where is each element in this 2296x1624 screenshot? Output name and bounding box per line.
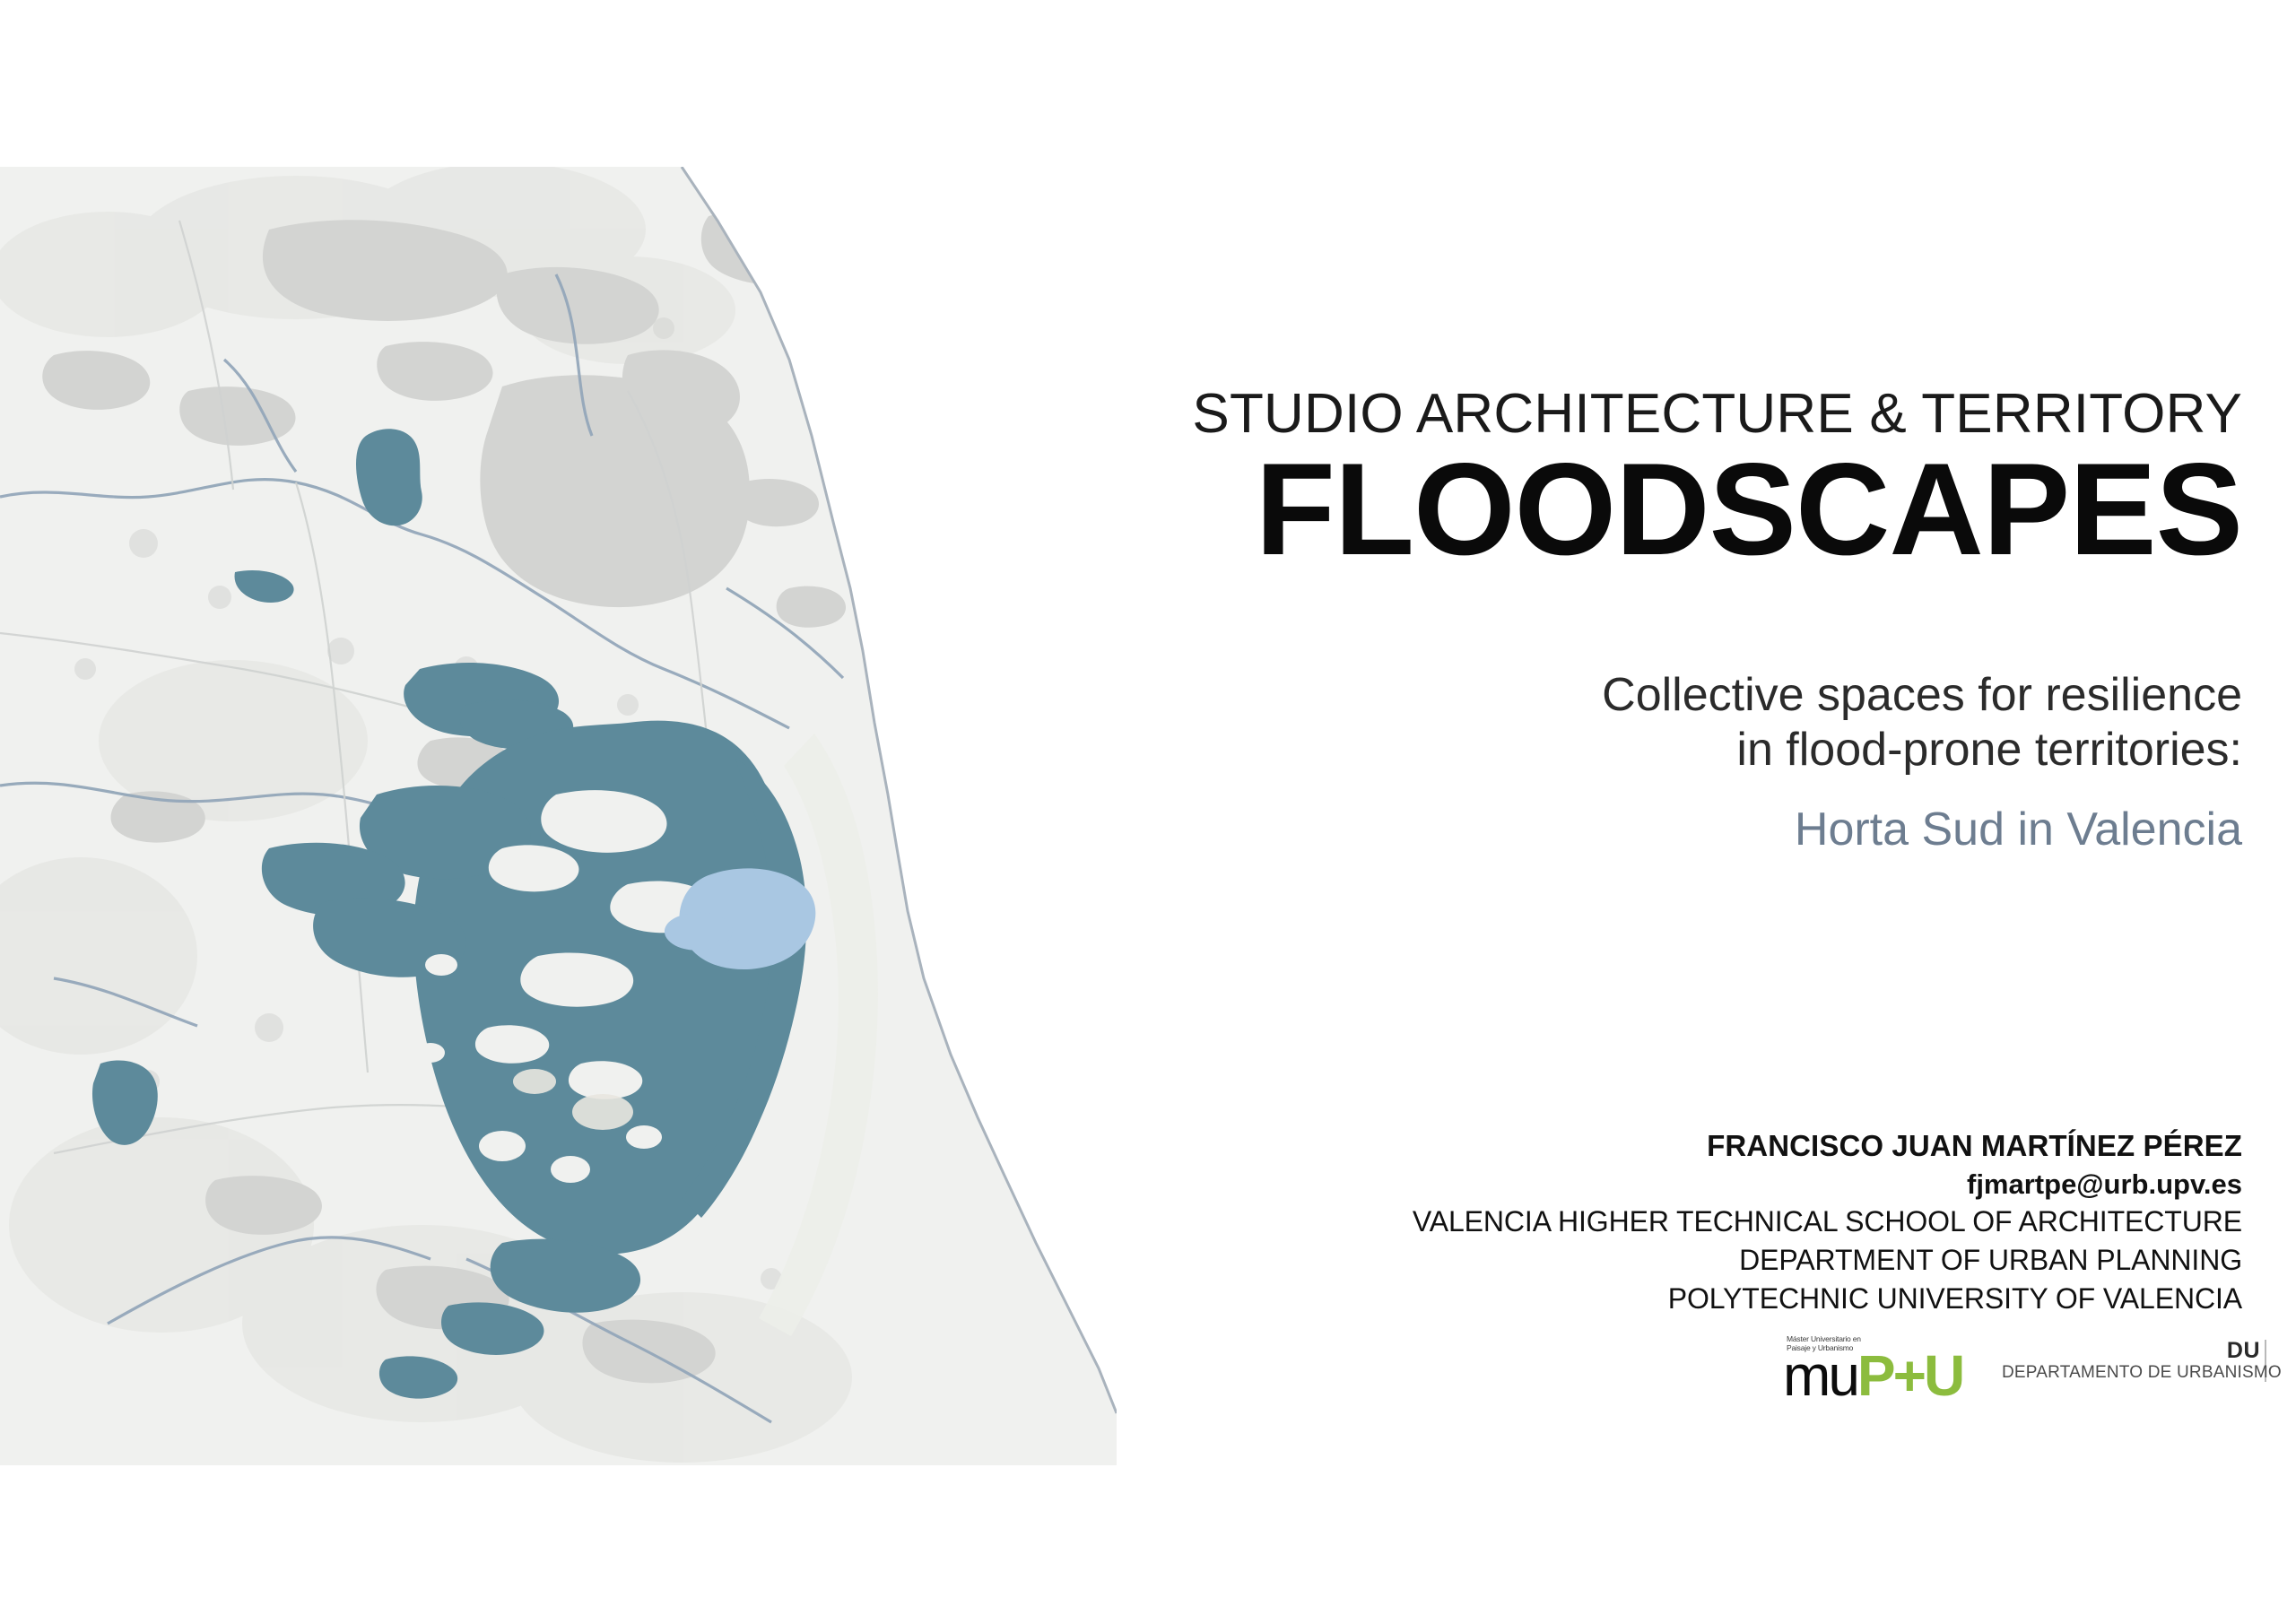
subtitle-line-1: Collective spaces for resilience: [1058, 668, 2242, 723]
du-logo: DU DEPARTAMENTO DE URBANISMO: [2002, 1340, 2266, 1382]
du-full-name: DEPARTAMENTO DE URBANISMO: [2002, 1363, 2260, 1382]
du-abbreviation: DU: [2002, 1340, 2260, 1363]
subtitle-block: Collective spaces for resilience in floo…: [1058, 668, 2242, 856]
credits-block: FRANCISCO JUAN MARTÍNEZ PÉREZ fjmartpe@u…: [1058, 1126, 2242, 1318]
location-line: Horta Sud in Valencia: [1058, 803, 2242, 857]
title-block: STUDIO ARCHITECTURE & TERRITORY FLOODSCA…: [1058, 386, 2242, 575]
affiliation-department: DEPARTMENT OF URBAN PLANNING: [1058, 1241, 2242, 1280]
horta-sud-flood-map: [0, 167, 1117, 1465]
mupu-tagline-line-1: Máster Universitario en: [1787, 1334, 1861, 1343]
mupu-wordmark: muP+U: [1783, 1347, 1962, 1404]
mupu-logo: Máster Universitario en Paisaje y Urbani…: [1776, 1333, 1984, 1406]
author-name: FRANCISCO JUAN MARTÍNEZ PÉREZ: [1058, 1126, 2242, 1166]
subtitle-line-2: in flood-prone territories:: [1058, 723, 2242, 777]
affiliation-school: VALENCIA HIGHER TECHNICAL SCHOOL OF ARCH…: [1058, 1203, 2242, 1241]
mupu-wordmark-green: P+U: [1857, 1343, 1962, 1408]
page-title: FLOODSCAPES: [1058, 444, 2242, 575]
logo-row: Máster Universitario en Paisaje y Urbani…: [1776, 1333, 2260, 1413]
map-panel: [0, 167, 1117, 1465]
studio-line: STUDIO ARCHITECTURE & TERRITORY: [1058, 386, 2242, 442]
affiliation-university: POLYTECHNIC UNIVERSITY OF VALENCIA: [1058, 1280, 2242, 1318]
author-email[interactable]: fjmartpe@urb.upv.es: [1058, 1166, 2242, 1203]
mupu-wordmark-dark: mu: [1783, 1343, 1857, 1408]
